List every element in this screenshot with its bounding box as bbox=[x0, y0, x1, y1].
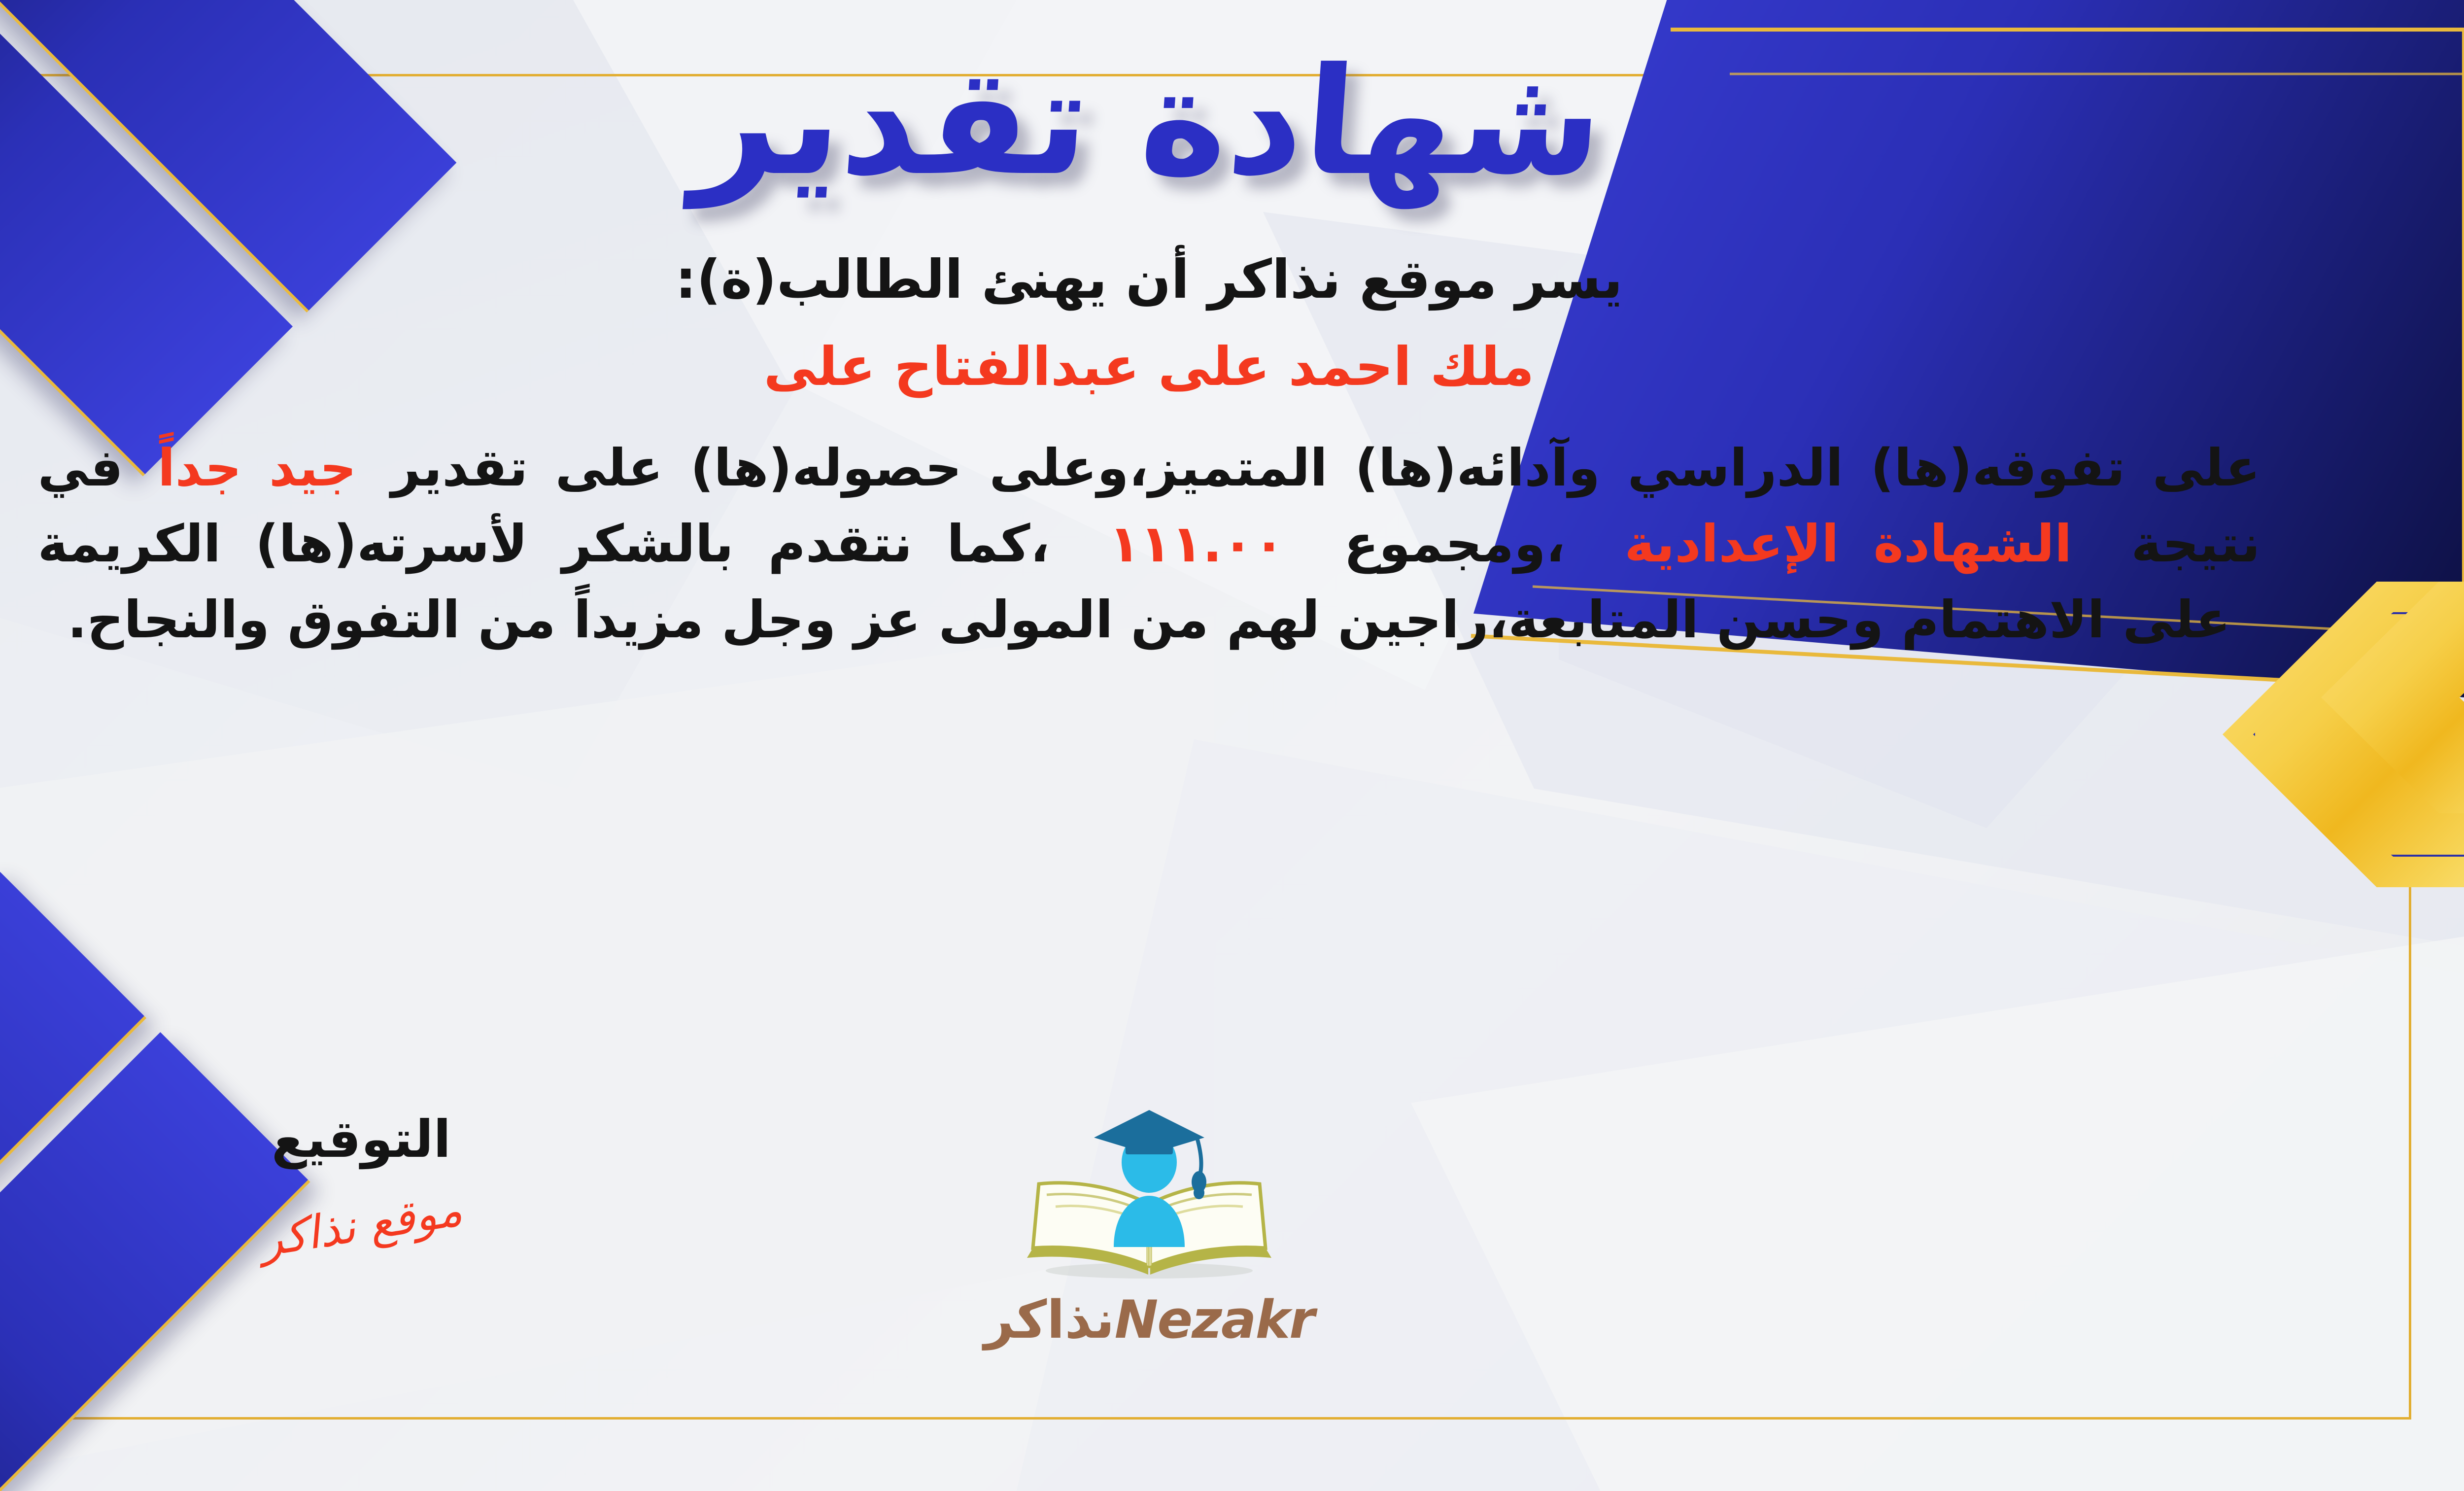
total-score: ١١١.٠٠ bbox=[1109, 514, 1285, 574]
signature-label: التوقيع bbox=[208, 1109, 514, 1169]
citation-segment-1: على تفوقه(ها) الدراسي وآدائه(ها) المتميز… bbox=[391, 438, 2260, 498]
graduate-on-book-icon bbox=[992, 1099, 1307, 1296]
handwritten-signature: موقع نذاكر bbox=[257, 1183, 466, 1267]
student-name: ملك احمد على عبدالفتاح على bbox=[0, 336, 2344, 398]
logo-wordmark: Nezakrنذاكر bbox=[937, 1289, 1361, 1350]
certificate-footer: التوقيع موقع نذاكر bbox=[0, 1099, 2464, 1405]
logo-arabic: نذاكر bbox=[984, 1289, 1115, 1350]
exam-name: الشهادة الإعدادية bbox=[1624, 514, 2072, 574]
site-logo: Nezakrنذاكر bbox=[937, 1099, 1361, 1350]
logo-latin: Nezakr bbox=[1115, 1289, 1314, 1350]
signature-block: التوقيع موقع نذاكر bbox=[208, 1109, 514, 1251]
citation-segment-3: ،ومجموع bbox=[1344, 514, 1565, 574]
citation-paragraph: على تفوقه(ها) الدراسي وآدائه(ها) المتميز… bbox=[0, 430, 2344, 658]
grade-value: جيد جداً bbox=[158, 438, 357, 498]
intro-line: يسر موقع نذاكر أن يهنئ الطالب(ة): bbox=[0, 249, 2344, 311]
certificate-page: شهادة تقدير يسر موقع نذاكر أن يهنئ الطال… bbox=[0, 0, 2464, 1491]
certificate-title: شهادة تقدير bbox=[688, 30, 1609, 214]
certificate-body: يسر موقع نذاكر أن يهنئ الطالب(ة): ملك اح… bbox=[0, 249, 2344, 658]
